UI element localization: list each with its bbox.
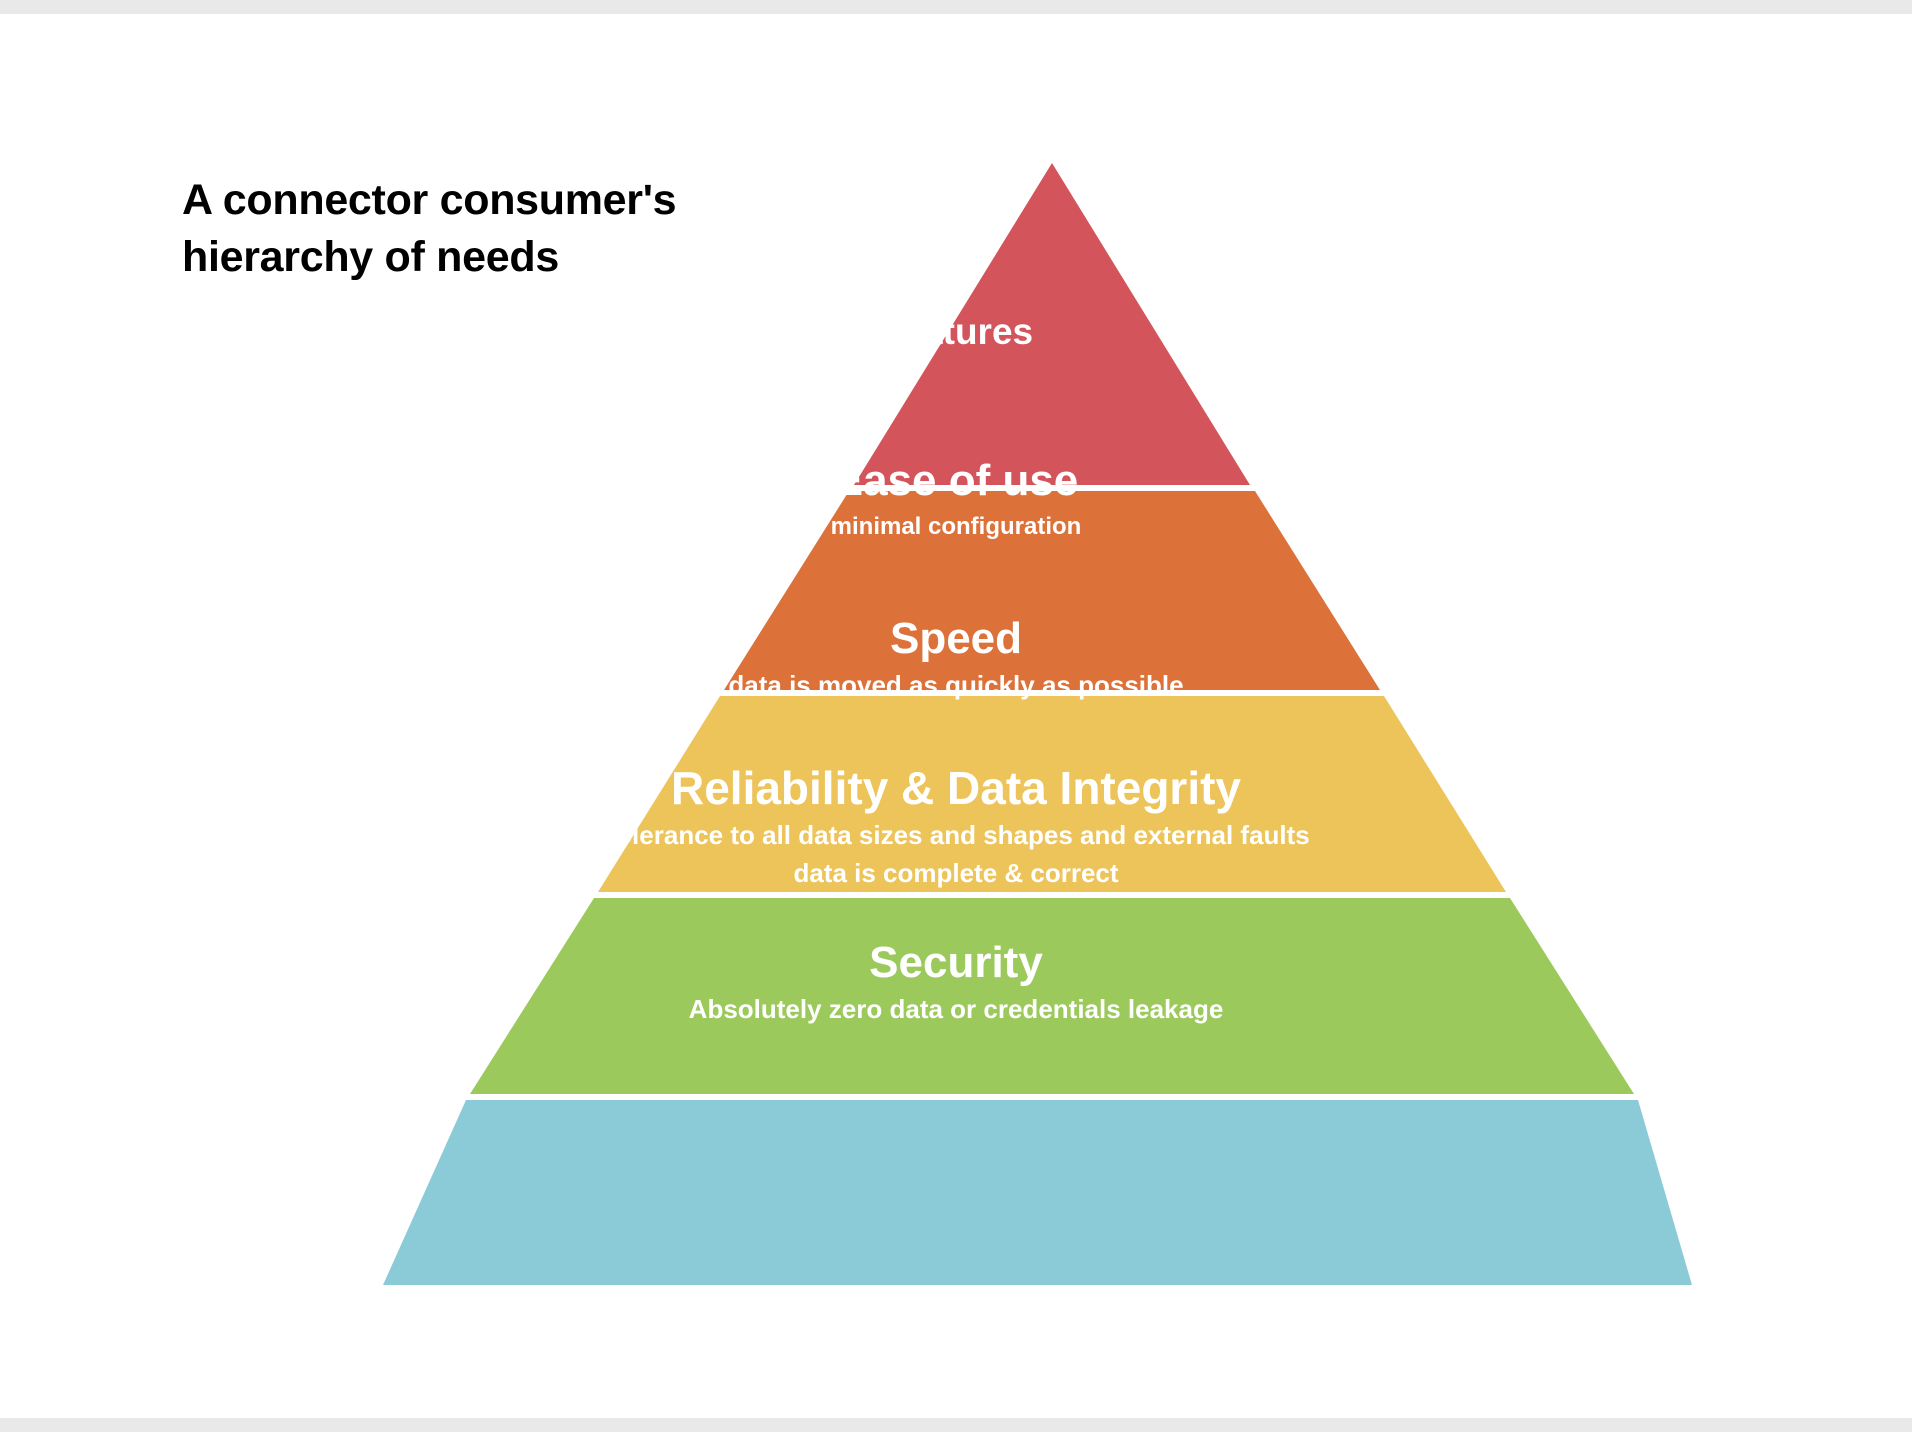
page-title-line-2: hierarchy of needs (182, 229, 802, 286)
diagram-area: A connector consumer's hierarchy of need… (0, 14, 1912, 1418)
pyramid-tier-security[interactable] (383, 1100, 1692, 1285)
pyramid-tier-reliability[interactable] (470, 898, 1634, 1094)
pyramid-tier-speed[interactable] (598, 696, 1506, 892)
pyramid-tier-ease-of-use[interactable] (724, 491, 1380, 690)
page-title-line-1: A connector consumer's (182, 172, 802, 229)
slide-canvas: A connector consumer's hierarchy of need… (0, 14, 1912, 1418)
page-title: A connector consumer's hierarchy of need… (182, 172, 802, 286)
pyramid-tier-features[interactable] (854, 163, 1250, 485)
